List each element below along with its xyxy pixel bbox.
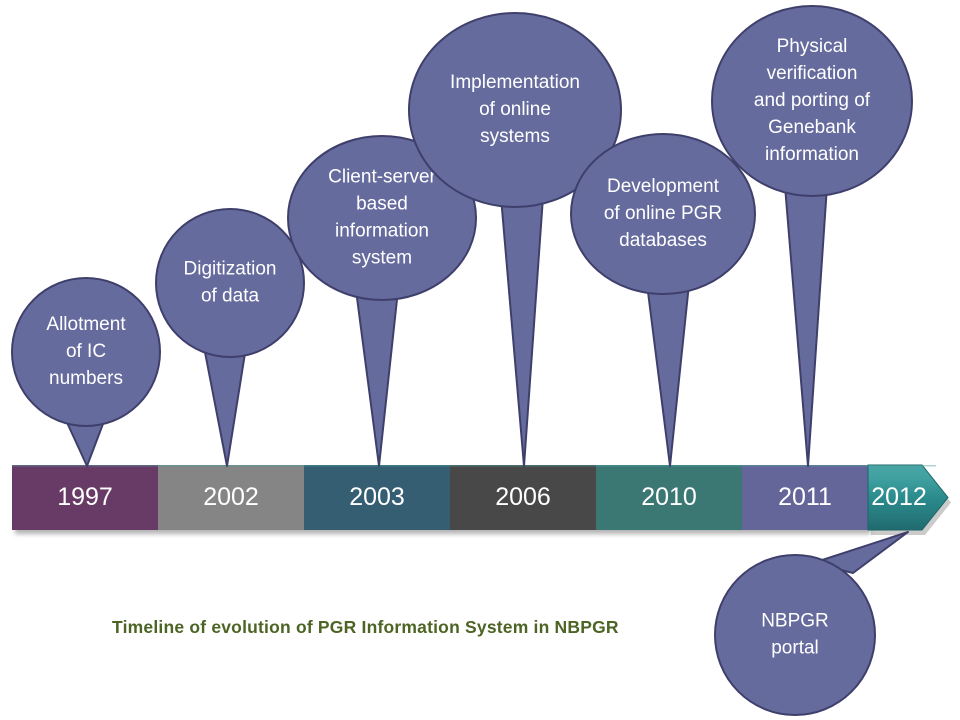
timeline-segment-2011[interactable]: 2011 [742, 465, 868, 530]
callout-text-line: based [356, 194, 408, 215]
callout-text-line: Digitization [184, 259, 277, 280]
callout-2010[interactable]: Developmentof online PGRdatabases [571, 134, 755, 466]
timeline-segment-2003[interactable]: 2003 [304, 465, 450, 530]
callout-text-line: information [335, 221, 429, 242]
segment-year-label: 2006 [495, 483, 551, 511]
callout-text-line: Allotment [46, 314, 126, 335]
segment-year-label: 2011 [778, 483, 832, 511]
callout-text-line: Genebank [768, 117, 856, 138]
callout-tail [501, 197, 543, 466]
callout-text-line: numbers [49, 368, 123, 389]
callout-text-line: portal [771, 638, 819, 659]
callout-2012[interactable]: NBPGRportal [715, 532, 908, 715]
callout-layer: Allotmentof ICnumbersDigitizationof data… [12, 6, 912, 715]
segment-year-label: 2010 [641, 483, 697, 511]
callout-1997[interactable]: Allotmentof ICnumbers [12, 278, 160, 466]
segment-year-label: 2012 [871, 483, 927, 511]
callout-text-line: Physical [777, 36, 848, 57]
callout-text-line: information [765, 144, 859, 165]
callout-2002[interactable]: Digitizationof data [156, 209, 304, 466]
timeline-bar: 1997200220032006201020112012 [12, 465, 951, 535]
callout-text-line: Implementation [450, 72, 580, 93]
callout-text-line: verification [767, 63, 858, 84]
segment-year-label: 1997 [57, 483, 113, 511]
callout-text-line: of online [479, 99, 551, 120]
callout-text-line: Client-server [328, 167, 436, 188]
callout-tail [204, 347, 246, 466]
segment-year-label: 2003 [349, 483, 405, 511]
callout-text-line: of data [201, 286, 260, 307]
callout-text-line: and porting of [754, 90, 871, 111]
callout-text-line: NBPGR [761, 611, 829, 632]
bar-top-highlight [12, 465, 936, 467]
callout-tail [647, 284, 689, 466]
callout-text-line: Development [607, 176, 720, 197]
callout-tail [356, 290, 398, 466]
timeline-segment-2010[interactable]: 2010 [596, 465, 742, 530]
callout-text-line: of IC [66, 341, 106, 362]
callout-bubble [715, 555, 875, 715]
segment-year-label: 2002 [203, 483, 259, 511]
timeline-segment-2006[interactable]: 2006 [450, 465, 596, 530]
callout-tail [785, 186, 827, 466]
callout-text-line: databases [619, 230, 707, 251]
callout-text-line: of online PGR [604, 203, 722, 224]
timeline-segment-1997[interactable]: 1997 [12, 465, 158, 530]
callout-text-line: systems [480, 126, 550, 147]
callout-bubble [156, 209, 304, 357]
timeline-diagram: 1997200220032006201020112012 Allotmentof… [0, 0, 960, 720]
diagram-caption: Timeline of evolution of PGR Information… [112, 617, 619, 637]
callout-text-line: system [352, 248, 412, 269]
timeline-canvas: 1997200220032006201020112012 Allotmentof… [0, 0, 960, 720]
timeline-segment-2002[interactable]: 2002 [158, 465, 304, 530]
